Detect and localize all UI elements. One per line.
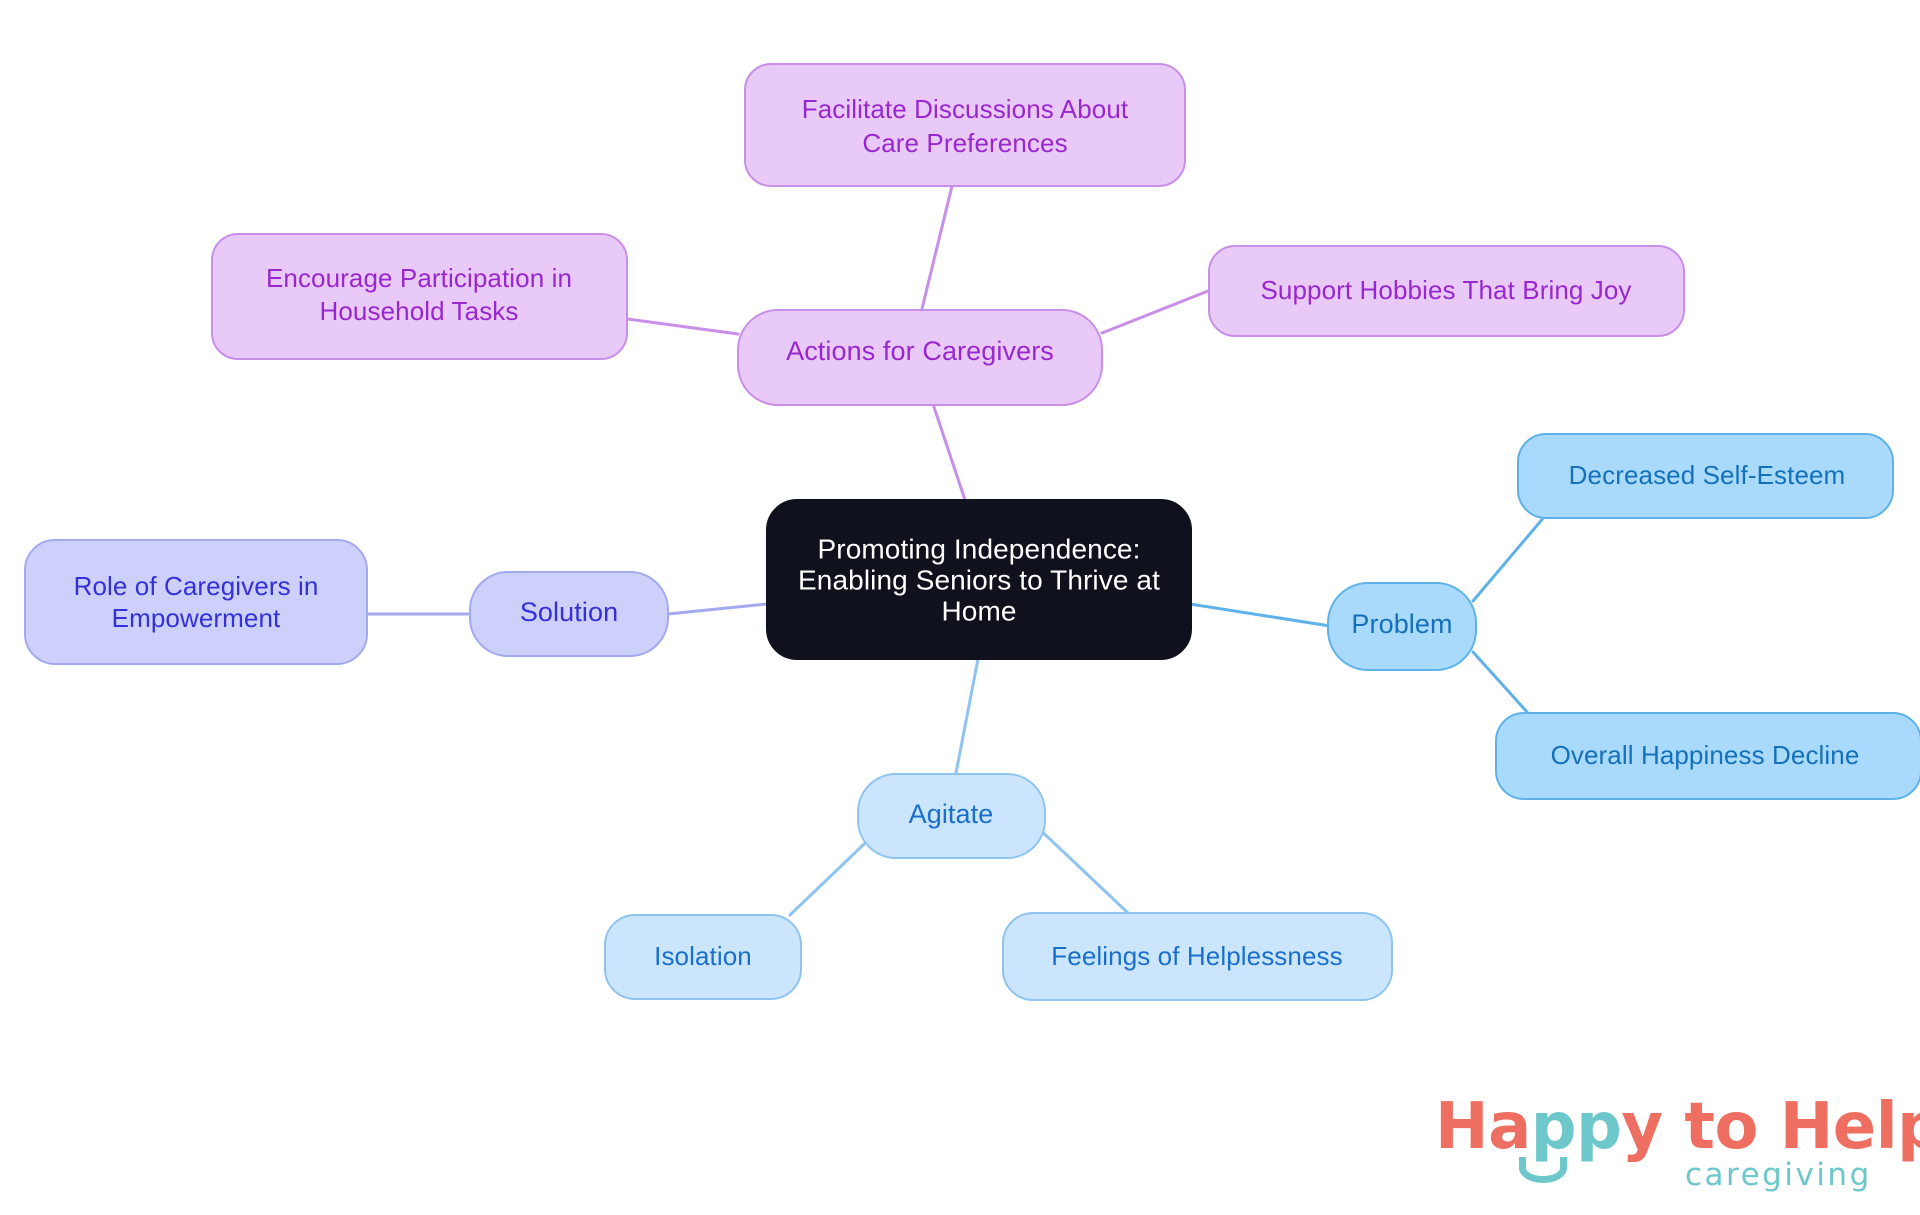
node-solution[interactable]: Solution [470, 572, 668, 656]
node-problem[interactable]: Problem [1328, 583, 1476, 670]
smile-arc-icon [1519, 1157, 1567, 1183]
brand-logo-tagline: caregiving [1685, 1157, 1872, 1193]
node-overall-happiness-decline[interactable]: Overall Happiness Decline [1496, 713, 1920, 799]
node-role-of-caregivers-label-line1: Role of Caregivers in [74, 571, 319, 601]
node-actions-for-caregivers[interactable]: Actions for Caregivers [738, 310, 1102, 405]
edge-root-to-agitate [955, 659, 978, 778]
node-decreased-self-esteem-label: Decreased Self-Esteem [1569, 460, 1846, 490]
node-isolation-label: Isolation [654, 941, 752, 971]
edge-actions-to-support-hobbies [1102, 291, 1208, 333]
node-role-of-caregivers[interactable]: Role of Caregivers in Empowerment [25, 540, 367, 664]
node-encourage-participation-label-line1: Encourage Participation in [266, 263, 572, 293]
edge-problem-to-decreased [1473, 516, 1545, 601]
node-support-hobbies-label: Support Hobbies That Bring Joy [1260, 275, 1631, 305]
node-problem-label: Problem [1351, 609, 1452, 639]
brand-logo: Happy to Help caregiving [1435, 1095, 1895, 1205]
brand-logo-y-to-help: y to Help [1621, 1090, 1920, 1164]
node-role-of-caregivers-label-line2: Empowerment [112, 603, 281, 633]
mindmap-svg: Facilitate Discussions About Care Prefer… [0, 0, 1920, 1215]
node-root-label-line1: Promoting Independence: [818, 533, 1141, 564]
node-support-hobbies[interactable]: Support Hobbies That Bring Joy [1209, 246, 1684, 336]
node-encourage-participation-label-line2: Household Tasks [319, 296, 518, 326]
brand-logo-pp: pp [1531, 1090, 1622, 1164]
node-actions-for-caregivers-label: Actions for Caregivers [786, 336, 1054, 366]
node-solution-label: Solution [520, 597, 618, 627]
node-root-label-line3: Home [941, 595, 1016, 626]
node-agitate-label: Agitate [909, 799, 994, 829]
edge-agitate-to-helplessness [1034, 824, 1128, 913]
node-isolation[interactable]: Isolation [605, 915, 801, 999]
edge-actions-to-facilitate [920, 186, 952, 317]
edge-problem-to-happiness [1473, 652, 1527, 712]
node-root[interactable]: Promoting Independence: Enabling Seniors… [767, 500, 1191, 659]
node-facilitate-discussions[interactable]: Facilitate Discussions About Care Prefer… [745, 64, 1185, 186]
node-feelings-of-helplessness-label: Feelings of Helplessness [1051, 941, 1342, 971]
brand-logo-ha: Ha [1435, 1090, 1531, 1164]
edge-root-to-actions [922, 390, 965, 500]
edge-root-to-problem [1190, 604, 1330, 626]
node-root-label-line2: Enabling Seniors to Thrive at [798, 564, 1160, 595]
node-facilitate-discussions-label-line1: Facilitate Discussions About [802, 94, 1129, 124]
mindmap-canvas: Facilitate Discussions About Care Prefer… [0, 0, 1920, 1215]
node-decreased-self-esteem[interactable]: Decreased Self-Esteem [1518, 434, 1893, 518]
node-overall-happiness-decline-label: Overall Happiness Decline [1551, 740, 1860, 770]
node-facilitate-discussions-rect[interactable] [745, 64, 1185, 186]
node-feelings-of-helplessness[interactable]: Feelings of Helplessness [1003, 913, 1392, 1000]
node-encourage-participation[interactable]: Encourage Participation in Household Tas… [212, 234, 627, 359]
node-facilitate-discussions-label-line2: Care Preferences [862, 128, 1067, 158]
node-agitate[interactable]: Agitate [858, 774, 1045, 858]
brand-logo-wordmark: Happy to Help [1435, 1095, 1920, 1159]
edge-root-to-solution [668, 604, 767, 614]
edge-actions-to-encourage [628, 319, 738, 334]
